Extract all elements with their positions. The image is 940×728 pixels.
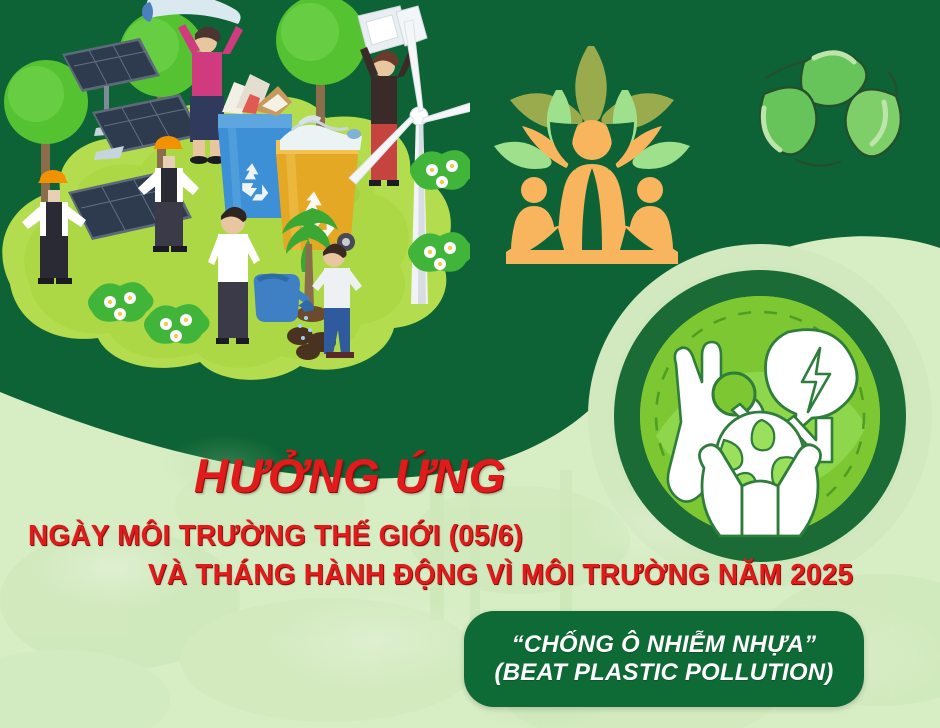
headline-line-2: NGÀY MÔI TRƯỜNG THẾ GIỚI (05/6) [28,520,527,553]
slogan-english: (BEAT PLASTIC POLLUTION) [495,659,834,687]
headline-line-3: VÀ THÁNG HÀNH ĐỘNG VÌ MÔI TRƯỜNG NĂM 202… [148,559,906,592]
people-tree-sunrise-logo [492,28,692,273]
eco-city-illustration [0,0,470,384]
slogan-vietnamese: “CHỐNG Ô NHIỄM NHỰA” [512,631,817,659]
three-leaf-recycle-symbol [738,32,923,182]
slogan-pill: “CHỐNG Ô NHIỄM NHỰA” (BEAT PLASTIC POLLU… [464,611,864,707]
headline-block: HƯỞNG ỨNG NGÀY MÔI TRƯỜNG THẾ GIỚI (05/6… [0,452,940,612]
headline-line-1: HƯỞNG ỨNG [0,452,700,499]
poster-canvas: HƯỞNG ỨNG NGÀY MÔI TRƯỜNG THẾ GIỚI (05/6… [0,0,940,728]
